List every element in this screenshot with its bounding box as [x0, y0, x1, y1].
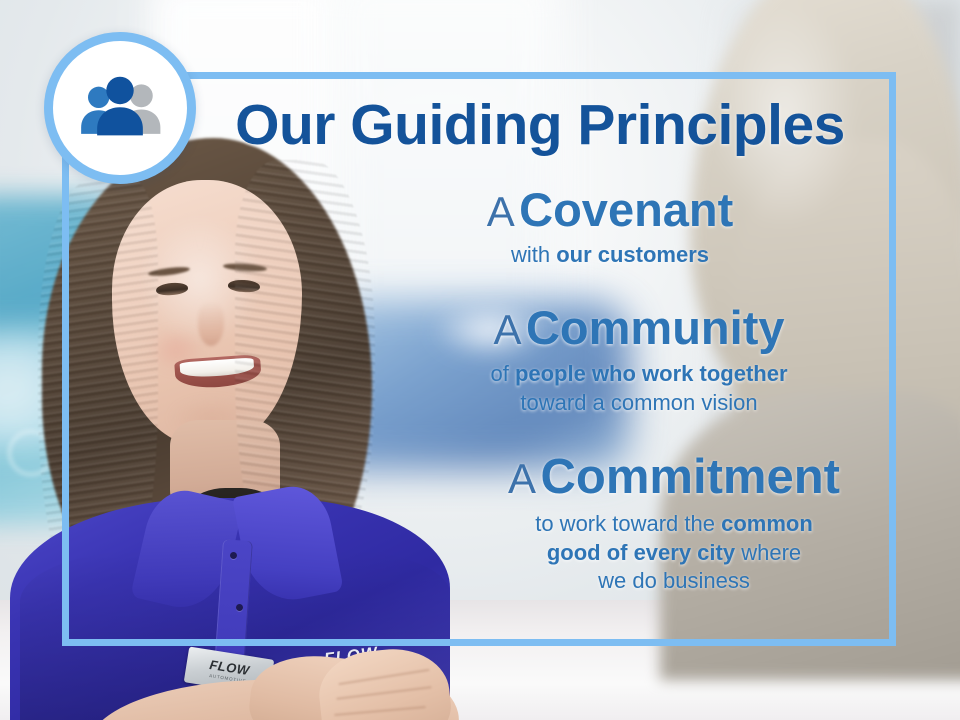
principle-commitment: A Commitment to work toward the commongo…: [448, 451, 900, 596]
principle-subtext-line: good of every city where: [448, 539, 900, 568]
principles-list: A Covenant with our customers A Communit…: [300, 185, 900, 602]
principle-covenant: A Covenant with our customers: [320, 185, 900, 269]
principle-subtext: to work toward the commongood of every c…: [448, 510, 900, 596]
people-badge: [44, 32, 196, 184]
principle-subtext-line: of people who work together: [378, 360, 900, 389]
plain-text: we do business: [598, 568, 750, 593]
page-title: Our Guiding Principles: [200, 96, 880, 154]
guiding-principles-graphic: FLOW AUTOMOTIVE FLOW: [0, 0, 960, 720]
principle-subtext-line: toward a common vision: [378, 389, 900, 418]
polo-button: [230, 552, 237, 559]
principle-word: Commitment: [541, 450, 840, 504]
principle-community: A Community of people who work togethert…: [378, 303, 900, 417]
plain-text: where: [735, 540, 801, 565]
principle-subtext: with our customers: [320, 241, 900, 270]
principle-subtext: of people who work togethertoward a comm…: [378, 360, 900, 417]
plain-text: toward a common vision: [520, 390, 757, 415]
principle-subtext-line: we do business: [448, 567, 900, 596]
emphasis-text: good of every city: [547, 540, 735, 565]
plain-text: of: [490, 361, 514, 386]
polo-button: [236, 604, 243, 611]
principle-subtext-line: with our customers: [320, 241, 900, 270]
plain-text: to work toward the: [535, 511, 721, 536]
principle-heading: A Covenant: [320, 185, 900, 236]
people-group-icon: [74, 76, 166, 140]
principle-article: A: [487, 188, 515, 235]
principle-heading: A Commitment: [448, 451, 900, 504]
principle-word: Community: [526, 301, 785, 354]
emphasis-text: common: [721, 511, 813, 536]
principle-heading: A Community: [378, 303, 900, 354]
principle-article: A: [494, 306, 522, 353]
emphasis-text: people who work together: [515, 361, 788, 386]
principle-word: Covenant: [519, 183, 733, 236]
principle-subtext-line: to work toward the common: [448, 510, 900, 539]
nose: [198, 302, 224, 346]
principle-article: A: [508, 455, 536, 502]
plain-text: with: [511, 242, 556, 267]
emphasis-text: our customers: [556, 242, 709, 267]
